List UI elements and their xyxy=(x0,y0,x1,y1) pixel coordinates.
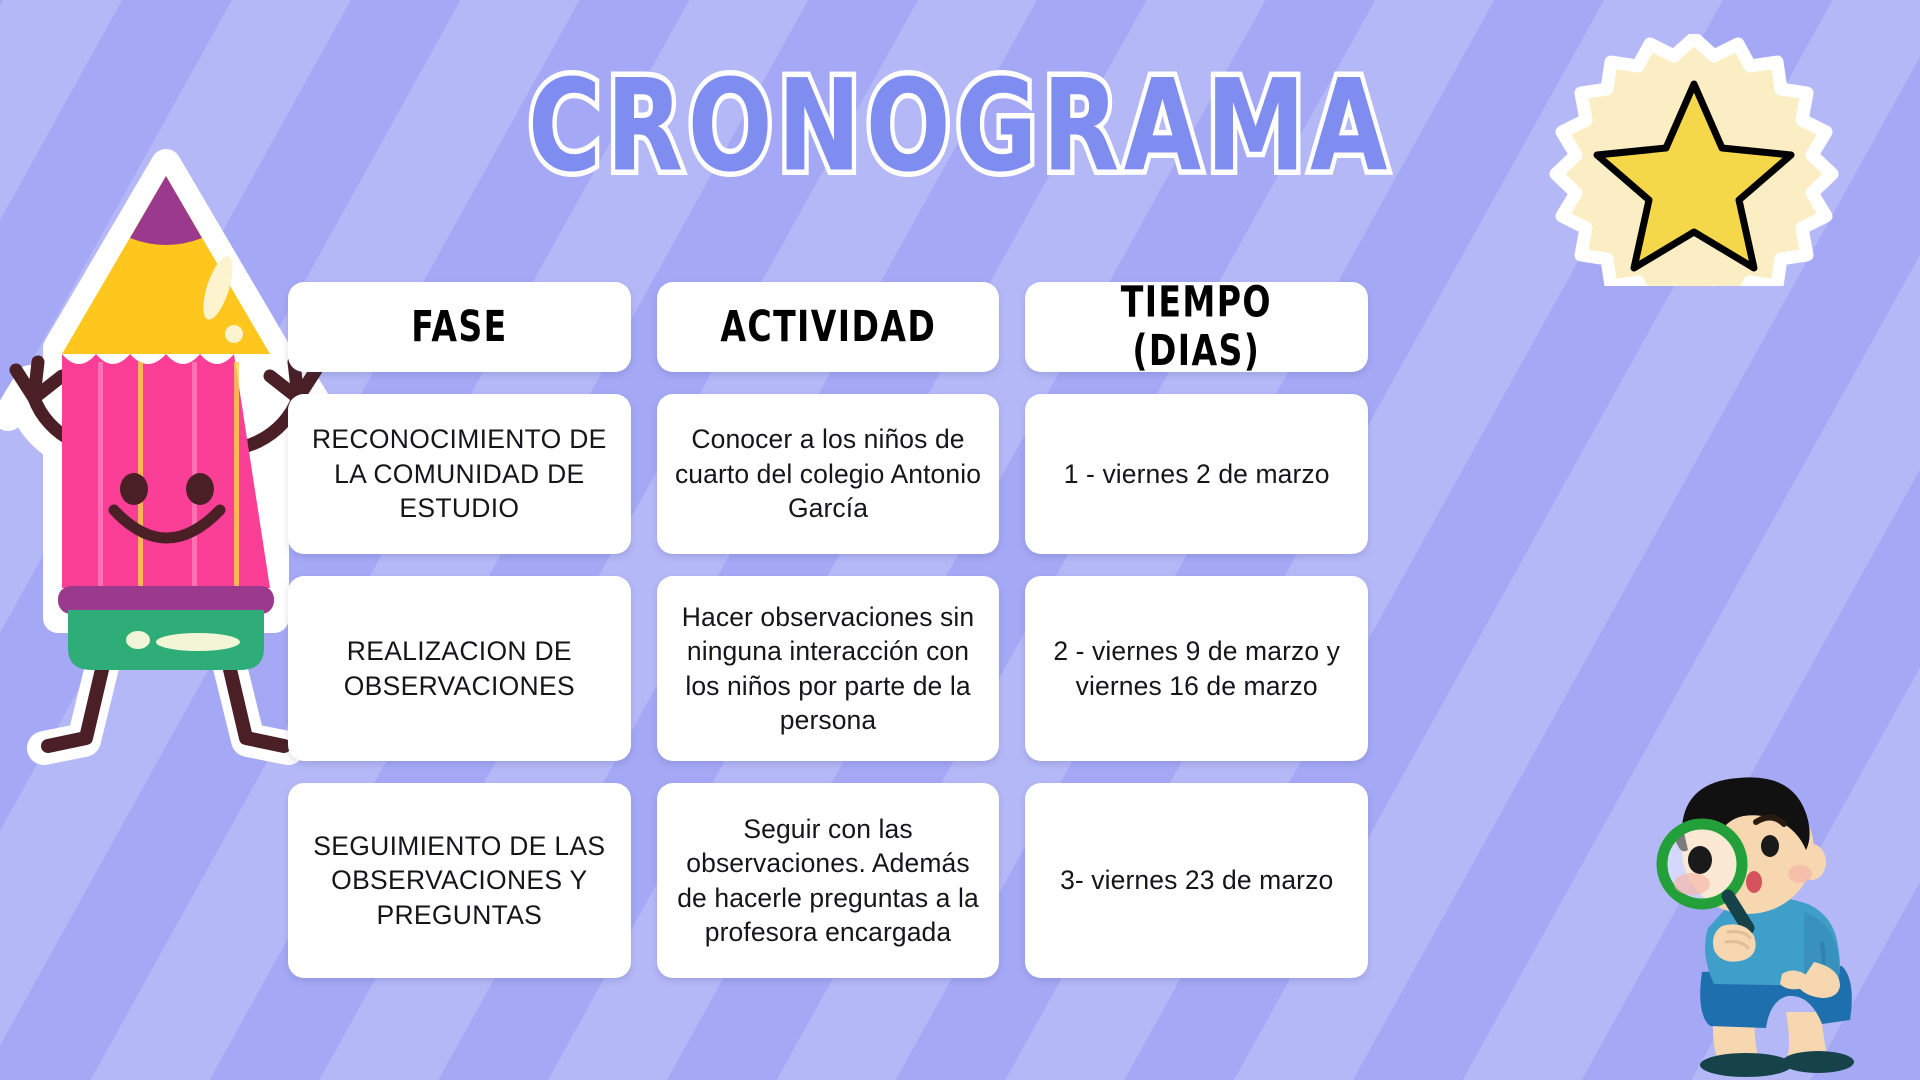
header-cell-actividad: ACTIVIDAD xyxy=(657,282,1000,372)
header-cell-fase: FASE xyxy=(288,282,631,372)
boy-with-magnifying-glass-illustration xyxy=(1636,776,1916,1080)
cell-text-actividad-1: Conocer a los niños de cuarto del colegi… xyxy=(675,422,982,525)
cell-text-tiempo-1: 1 - viernes 2 de marzo xyxy=(1064,457,1330,491)
cell-fase-1: RECONOCIMIENTO DE LA COMUNIDAD DE ESTUDI… xyxy=(288,394,631,554)
header-cell-tiempo: TIEMPO (DIAS) xyxy=(1025,282,1368,372)
cell-text-fase-2: REALIZACION DE OBSERVACIONES xyxy=(306,634,613,703)
cell-text-actividad-2: Hacer observaciones sin ninguna interacc… xyxy=(675,600,982,738)
table-row: REALIZACION DE OBSERVACIONES Hacer obser… xyxy=(288,576,1368,761)
cell-actividad-1: Conocer a los niños de cuarto del colegi… xyxy=(657,394,1000,554)
table-row: RECONOCIMIENTO DE LA COMUNIDAD DE ESTUDI… xyxy=(288,394,1368,554)
schedule-table: FASE ACTIVIDAD TIEMPO (DIAS) RECONOCIMIE… xyxy=(288,282,1368,978)
star-badge-icon xyxy=(1548,34,1840,286)
header-label-tiempo: TIEMPO (DIAS) xyxy=(1056,279,1338,376)
cell-text-tiempo-3: 3- viernes 23 de marzo xyxy=(1060,863,1333,897)
cell-actividad-3: Seguir con las observaciones. Además de … xyxy=(657,783,1000,978)
header-label-fase: FASE xyxy=(411,303,507,351)
cell-text-actividad-3: Seguir con las observaciones. Además de … xyxy=(675,812,982,950)
cell-fase-3: SEGUIMIENTO DE LAS OBSERVACIONES Y PREGU… xyxy=(288,783,631,978)
cell-tiempo-3: 3- viernes 23 de marzo xyxy=(1025,783,1368,978)
pencil-eraser xyxy=(58,586,274,670)
header-label-actividad: ACTIVIDAD xyxy=(720,303,936,351)
pencil-body xyxy=(62,354,270,588)
table-row: SEGUIMIENTO DE LAS OBSERVACIONES Y PREGU… xyxy=(288,783,1368,978)
cell-tiempo-2: 2 - viernes 9 de marzo y viernes 16 de m… xyxy=(1025,576,1368,761)
cell-actividad-2: Hacer observaciones sin ninguna interacc… xyxy=(657,576,1000,761)
cell-fase-2: REALIZACION DE OBSERVACIONES xyxy=(288,576,631,761)
table-header-row: FASE ACTIVIDAD TIEMPO (DIAS) xyxy=(288,282,1368,372)
cell-text-fase-1: RECONOCIMIENTO DE LA COMUNIDAD DE ESTUDI… xyxy=(306,422,613,525)
cell-text-fase-3: SEGUIMIENTO DE LAS OBSERVACIONES Y PREGU… xyxy=(306,829,613,932)
cell-tiempo-1: 1 - viernes 2 de marzo xyxy=(1025,394,1368,554)
cell-text-tiempo-2: 2 - viernes 9 de marzo y viernes 16 de m… xyxy=(1043,634,1350,703)
magnifying-glass-icon xyxy=(1662,824,1748,928)
